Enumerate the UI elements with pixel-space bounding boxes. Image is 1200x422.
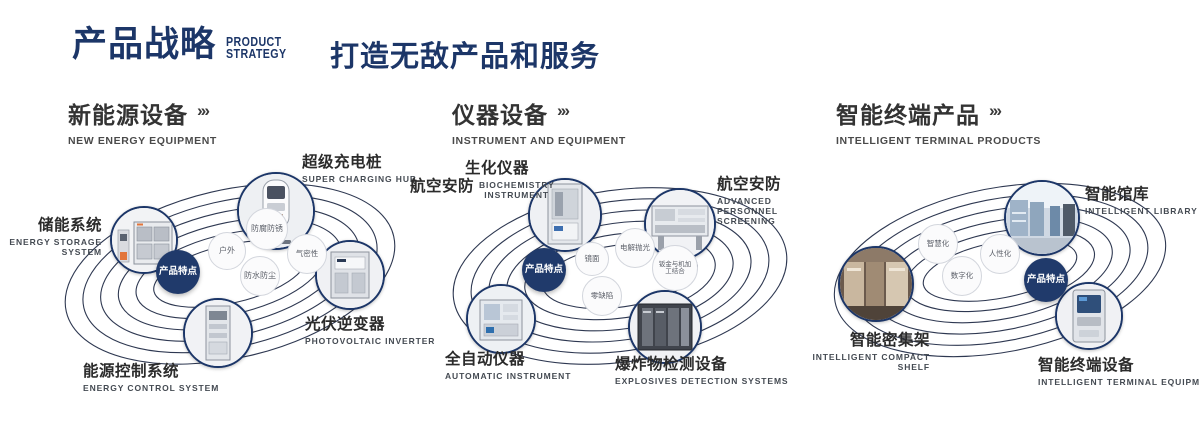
feature-bubble-label: 人性化	[989, 250, 1012, 258]
self-service-terminal-image	[1057, 284, 1121, 348]
core-bubble-label: 产品特点	[525, 265, 563, 276]
section-title-cn: 仪器设备	[452, 96, 548, 130]
feature-bubble-label: 防腐防锈	[251, 225, 283, 234]
section-title-en: INTELLIGENT TERMINAL PRODUCTS	[836, 135, 1041, 147]
label-explosives-detection-systems: 爆炸物检测设备 EXPLOSIVES DETECTION SYSTEMS	[615, 352, 789, 386]
feature-bubble-label: 数字化	[951, 272, 974, 280]
label-cn: 航空安防	[717, 172, 813, 194]
section-title-en: NEW ENERGY EQUIPMENT	[68, 135, 217, 147]
page-subtitle: 打造无敌产品和服务	[330, 33, 600, 75]
label-cn: 爆炸物检测设备	[615, 352, 789, 374]
automatic-analyzer-image	[468, 286, 534, 352]
page-header: 产品战略 PRODUCT STRATEGY	[72, 28, 300, 63]
label-energy-control-system: 能源控制系统 ENERGY CONTROL SYSTEM	[83, 359, 219, 393]
page-title: 产品战略	[72, 28, 216, 63]
core-bubble-product-features[interactable]: 产品特点	[156, 250, 200, 294]
core-bubble-label: 产品特点	[1027, 275, 1065, 286]
feature-bubble-label: 电解抛光	[620, 244, 650, 252]
label-photovoltaic-inverter: 光伏逆变器 PHOTOVOLTAIC INVERTER	[305, 312, 435, 346]
chevron-right-icon: ›››	[197, 101, 208, 121]
feature-bubble-outdoor[interactable]: 户外	[208, 232, 246, 270]
label-cn: 全自动仪器	[445, 347, 571, 369]
feature-bubble-digital[interactable]: 数字化	[942, 256, 982, 296]
label-en: ENERGY CONTROL SYSTEM	[83, 383, 219, 393]
feature-bubble-label: 防水防尘	[244, 272, 276, 281]
feature-bubble-waterproof-dustproof[interactable]: 防水防尘	[240, 256, 280, 296]
feature-bubble-label: 零缺陷	[591, 292, 614, 300]
product-strategy-infographic: 产品战略 PRODUCT STRATEGY 打造无敌产品和服务 新能源设备›››…	[0, 0, 1200, 422]
label-en: EXPLOSIVES DETECTION SYSTEMS	[615, 376, 789, 386]
feature-bubble-anticorrosion[interactable]: 防腐防锈	[246, 208, 288, 250]
chevron-right-icon: ›››	[557, 101, 568, 121]
label-en: INTELLIGENT LIBRARY	[1085, 206, 1198, 216]
cluster-new-energy-equipment: 产品特点 户外 防腐防锈 防水防尘 气密性 储能系统 ENERGY STORAG…	[40, 150, 420, 390]
label-cn: 能源控制系统	[83, 359, 219, 381]
node-energy-control-system[interactable]	[183, 298, 253, 368]
label-en: PHOTOVOLTAIC INVERTER	[305, 336, 435, 346]
section-title-cn: 智能终端产品	[836, 96, 980, 130]
node-intelligent-compact-shelf[interactable]	[838, 246, 914, 322]
core-bubble-product-features[interactable]: 产品特点	[1024, 258, 1068, 302]
feature-bubble-humanized[interactable]: 人性化	[980, 234, 1020, 274]
core-bubble-product-features[interactable]: 产品特点	[522, 248, 566, 292]
label-biochemistry-instrument: 生化仪器 BIOCHEMISTRY INSTRUMENT	[465, 156, 549, 200]
section-title-intelligent-terminal: 智能终端产品››› INTELLIGENT TERMINAL PRODUCTS	[836, 96, 1041, 147]
chevron-right-icon: ›››	[989, 101, 1000, 121]
feature-bubble-mirror-finish[interactable]: 镜面	[575, 242, 609, 276]
label-en: ENERGY STORAGE SYSTEM	[0, 237, 102, 257]
feature-bubble-airtightness[interactable]: 气密性	[287, 234, 327, 274]
label-en: ADVANCED PERSONNEL SCREENING	[717, 196, 813, 226]
section-title-en: INSTRUMENT AND EQUIPMENT	[452, 135, 626, 147]
label-en: AUTOMATIC INSTRUMENT	[445, 371, 571, 381]
node-intelligent-terminal-equipment[interactable]	[1055, 282, 1123, 350]
feature-bubble-label: 钣金与机加工结合	[658, 261, 692, 276]
compact-shelf-image	[840, 248, 912, 320]
label-en: INTELLIGENT COMPACT SHELF	[805, 352, 930, 372]
node-automatic-instrument[interactable]	[466, 284, 536, 354]
control-cabinet-image	[185, 300, 251, 366]
label-cn: 智能密集架	[805, 328, 930, 350]
label-intelligent-terminal-equipment: 智能终端设备 INTELLIGENT TERMINAL EQUIPMENT	[1038, 353, 1200, 387]
label-cn: 智能馆库	[1085, 182, 1198, 204]
feature-bubble-label: 智慧化	[927, 240, 950, 248]
label-intelligent-compact-shelf: 智能密集架 INTELLIGENT COMPACT SHELF	[805, 328, 930, 372]
section-title-instrument: 仪器设备››› INSTRUMENT AND EQUIPMENT	[452, 96, 626, 147]
label-cn: 超级充电桩	[302, 150, 417, 172]
label-cn: 智能终端设备	[1038, 353, 1200, 375]
label-automatic-instrument: 全自动仪器 AUTOMATIC INSTRUMENT	[445, 347, 571, 381]
feature-bubble-label: 镜面	[585, 255, 600, 263]
section-title-new-energy: 新能源设备››› NEW ENERGY EQUIPMENT	[68, 96, 217, 147]
feature-bubble-sheetmetal-machining[interactable]: 钣金与机加工结合	[652, 245, 698, 291]
feature-bubble-label: 户外	[219, 247, 235, 256]
label-intelligent-library: 智能馆库 INTELLIGENT LIBRARY	[1085, 182, 1198, 216]
label-cn: 光伏逆变器	[305, 312, 435, 334]
feature-bubble-zero-defect[interactable]: 零缺陷	[582, 276, 622, 316]
cluster-intelligent-terminal-products: 智慧化 数字化 人性化 产品特点 智能馆库 INTELLIGENT LIBRAR…	[810, 150, 1190, 390]
label-super-charging-hub: 超级充电桩 SUPER CHARGING HUB	[302, 150, 417, 184]
label-en: SUPER CHARGING HUB	[302, 174, 417, 184]
cluster-instrument-and-equipment: 产品特点 镜面 电解抛光 钣金与机加工结合 零缺陷 航空安防 生化仪器 BIOC…	[430, 150, 810, 390]
label-en: INTELLIGENT TERMINAL EQUIPMENT	[1038, 377, 1200, 387]
label-cn: 储能系统	[0, 213, 102, 235]
label-advanced-personnel-screening: 航空安防 ADVANCED PERSONNEL SCREENING	[717, 172, 813, 226]
section-title-cn: 新能源设备	[68, 96, 188, 130]
core-bubble-label: 产品特点	[159, 267, 197, 278]
label-cn: 生化仪器	[465, 156, 549, 178]
feature-bubble-label: 气密性	[296, 250, 319, 258]
label-en: BIOCHEMISTRY INSTRUMENT	[479, 180, 549, 200]
feature-bubble-electropolishing[interactable]: 电解抛光	[615, 228, 655, 268]
page-title-en-line2: STRATEGY	[226, 48, 287, 60]
page-title-english: PRODUCT STRATEGY	[226, 36, 287, 60]
label-energy-storage-system: 储能系统 ENERGY STORAGE SYSTEM	[0, 213, 102, 257]
